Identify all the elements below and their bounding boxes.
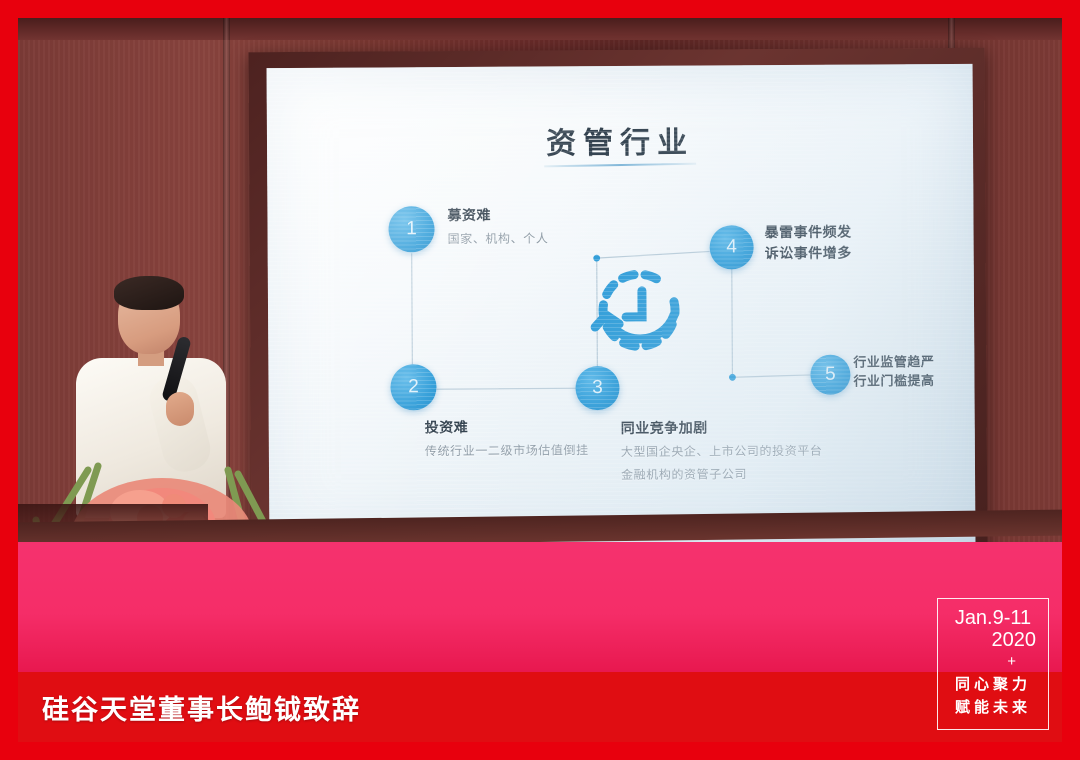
slide-label-5-heading-2: 行业门槛提高 — [853, 373, 934, 392]
slide-label-5-heading: 行业监管趋严 — [853, 354, 934, 373]
slide-label-2-heading: 投资难 — [425, 416, 589, 437]
slide-title: 资管行业 — [267, 116, 973, 164]
wall-top-trim — [18, 18, 1062, 40]
badge-year: 2020 — [992, 629, 1037, 651]
slide-title-underline — [544, 163, 696, 168]
poster-frame: 资管行业 — [0, 0, 1080, 760]
speaker-hair — [114, 276, 184, 310]
projection-screen: 资管行业 — [267, 64, 976, 546]
speaker-hand — [166, 392, 194, 426]
slide-label-1-line-1: 国家、机构、个人 — [448, 229, 549, 247]
badge-date: Jan.9-11 — [955, 608, 1031, 629]
badge-plus-icon: + — [1007, 654, 1016, 669]
stage-backdrop — [18, 542, 1062, 672]
badge-slogan-line-2: 赋能未来 — [955, 696, 1031, 719]
connector-dot-bottom — [729, 374, 736, 381]
caption-bar: 硅谷天堂董事长鲍钺致辞 — [18, 672, 1062, 742]
slide-label-1-heading: 募资难 — [447, 204, 548, 225]
slide-label-3-line-2: 金融机构的资管子公司 — [621, 465, 823, 483]
slide-label-1: 募资难 国家、机构、个人 — [447, 204, 548, 247]
slide-label-3-line-1: 大型国企央企、上市公司的投资平台 — [621, 442, 823, 460]
slide-label-3-heading: 同业竞争加剧 — [621, 417, 823, 438]
slide-label-4: 暴雷事件频发 诉讼事件增多 — [765, 223, 852, 266]
slide-label-4-heading-2: 诉讼事件增多 — [765, 244, 852, 266]
slide-node-3: 3 — [575, 366, 619, 410]
clock-history-icon — [586, 259, 699, 372]
presentation-slide: 资管行业 — [267, 64, 976, 546]
caption-text: 硅谷天堂董事长鲍钺致辞 — [42, 688, 361, 727]
event-photo: 资管行业 — [18, 18, 1062, 672]
event-date-badge: Jan.9-11 2020 + 同心聚力 赋能未来 — [937, 598, 1049, 730]
slide-node-4: 4 — [710, 225, 754, 269]
slide-label-2-line-1: 传统行业一二级市场估值倒挂 — [425, 441, 589, 459]
slide-node-2: 2 — [390, 364, 436, 410]
slide-label-3: 同业竞争加剧 大型国企央企、上市公司的投资平台 金融机构的资管子公司 — [621, 417, 823, 483]
slide-node-1: 1 — [388, 206, 434, 252]
slide-node-5: 5 — [810, 355, 850, 395]
badge-slogan-line-1: 同心聚力 — [955, 673, 1031, 696]
slide-label-2: 投资难 传统行业一二级市场估值倒挂 — [425, 416, 589, 459]
slide-label-4-heading: 暴雷事件频发 — [765, 223, 852, 245]
slide-label-5: 行业监管趋严 行业门槛提高 — [853, 354, 934, 392]
